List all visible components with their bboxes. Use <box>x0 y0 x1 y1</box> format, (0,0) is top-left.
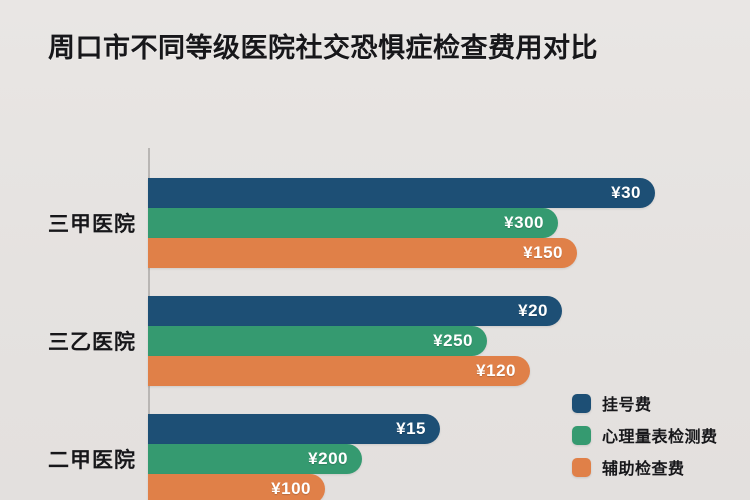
bar-value-label: ¥15 <box>396 414 426 444</box>
legend-swatch-icon <box>572 394 591 413</box>
bar-guahaofei[interactable]: ¥15 <box>148 414 440 444</box>
category-label-1: 三乙医院 <box>0 326 136 356</box>
bar-value-label: ¥30 <box>611 178 641 208</box>
bar-guahaofei[interactable]: ¥20 <box>148 296 562 326</box>
chart-legend: 挂号费 心理量表检测费 辅助检查费 <box>572 388 718 484</box>
category-label-2: 二甲医院 <box>0 444 136 474</box>
legend-swatch-icon <box>572 426 591 445</box>
legend-swatch-icon <box>572 458 591 477</box>
bar-value-label: ¥300 <box>504 208 544 238</box>
bar-value-label: ¥100 <box>271 474 311 500</box>
legend-item-guahaofei[interactable]: 挂号费 <box>572 388 718 418</box>
bar-xinlilbjcf[interactable]: ¥250 <box>148 326 487 356</box>
bar-value-label: ¥200 <box>308 444 348 474</box>
bar-value-label: ¥150 <box>523 238 563 268</box>
legend-label: 心理量表检测费 <box>602 423 718 447</box>
bar-fuzhujianchafei[interactable]: ¥150 <box>148 238 577 268</box>
legend-label: 挂号费 <box>602 391 652 415</box>
bar-xinlilbjcf[interactable]: ¥300 <box>148 208 558 238</box>
bar-value-label: ¥20 <box>518 296 548 326</box>
bar-value-label: ¥120 <box>476 356 516 386</box>
legend-item-fuzhujianchafei[interactable]: 辅助检查费 <box>572 452 718 482</box>
bar-fuzhujianchafei[interactable]: ¥100 <box>148 474 325 500</box>
bar-value-label: ¥250 <box>433 326 473 356</box>
category-label-0: 三甲医院 <box>0 208 136 238</box>
bar-guahaofei[interactable]: ¥30 <box>148 178 655 208</box>
chart-container: 周口市不同等级医院社交恐惧症检查费用对比 三甲医院 ¥30 ¥300 ¥150 <box>0 0 750 500</box>
legend-item-xinlilbjcf[interactable]: 心理量表检测费 <box>572 420 718 450</box>
bar-xinlilbjcf[interactable]: ¥200 <box>148 444 362 474</box>
legend-label: 辅助检查费 <box>602 455 685 479</box>
bar-fuzhujianchafei[interactable]: ¥120 <box>148 356 530 386</box>
